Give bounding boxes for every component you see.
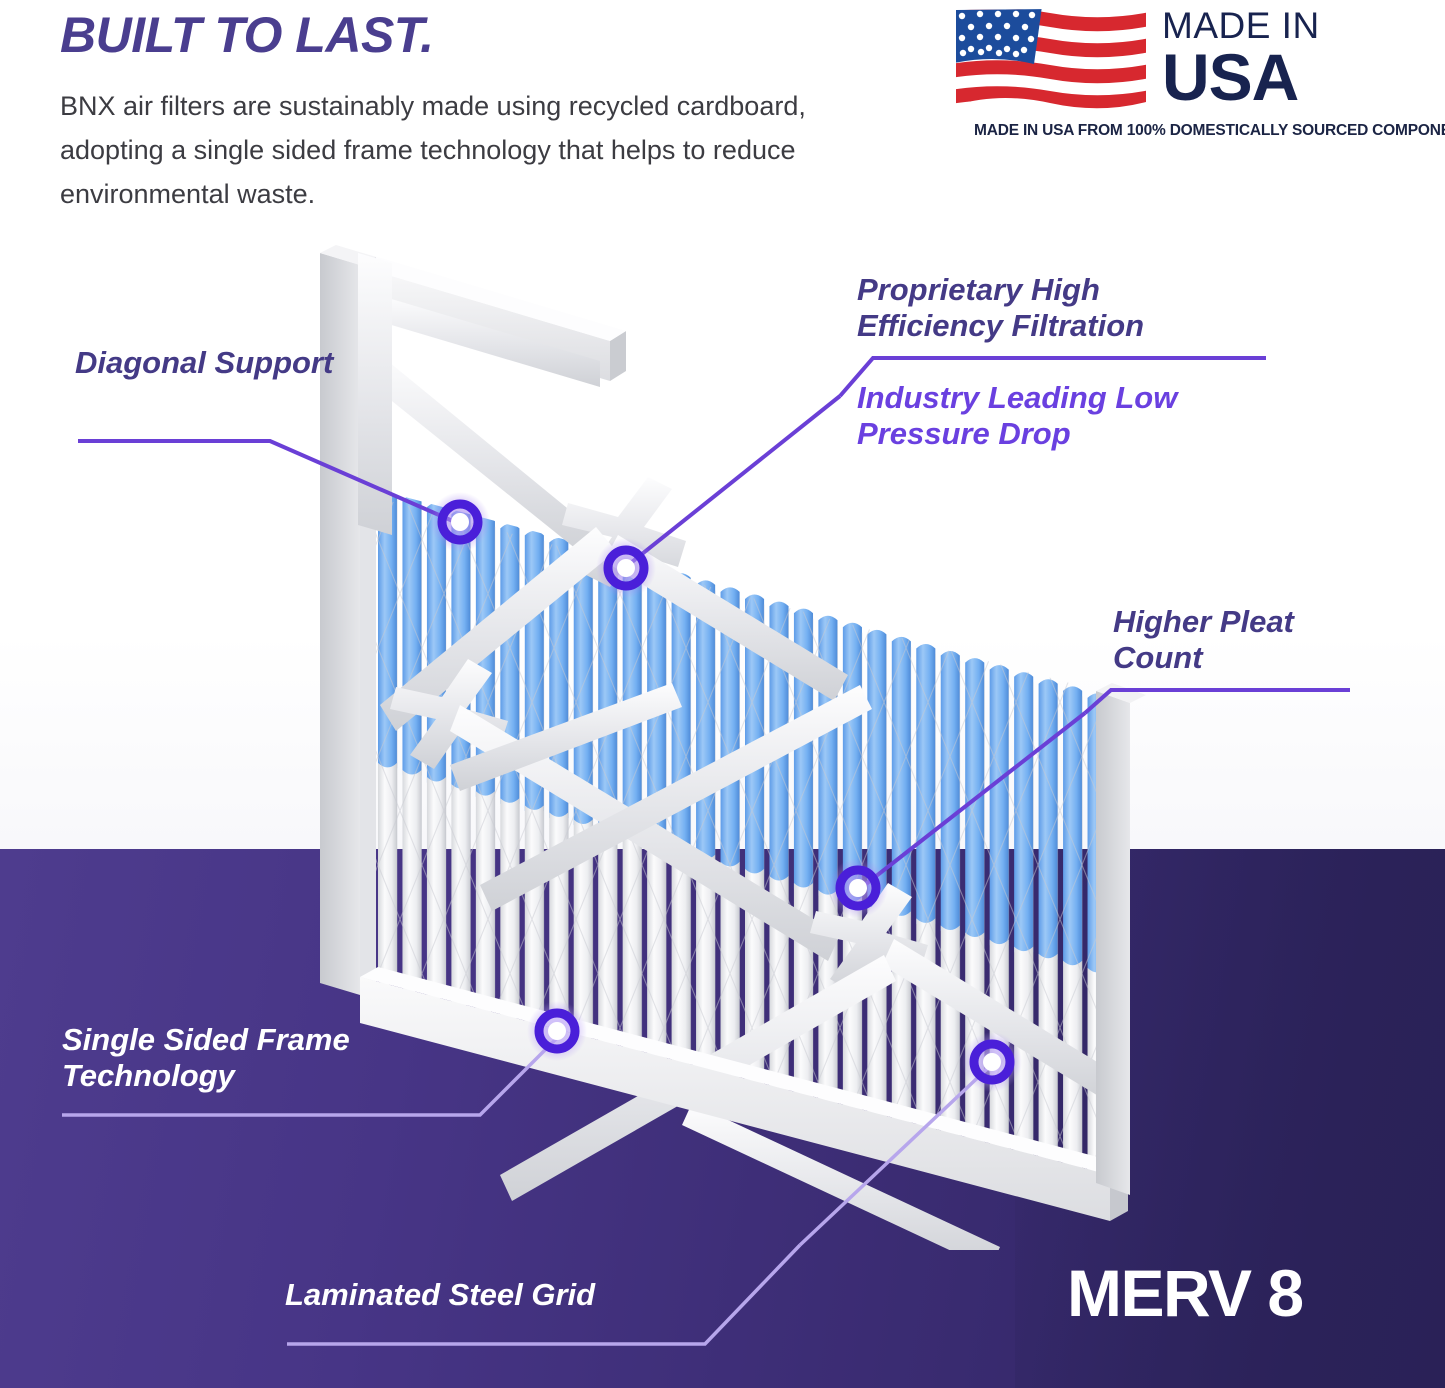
badge-tagline: MADE IN USA FROM 100% DOMESTICALLY SOURC… xyxy=(974,122,1444,140)
callout-higher-pleat-count-label: Higher Pleat Count xyxy=(1113,604,1294,677)
merv-rating: MERV 8 xyxy=(1067,1255,1303,1331)
callout-diagonal-support: Diagonal Support xyxy=(75,345,333,381)
callout-diagonal-support-label: Diagonal Support xyxy=(75,345,333,381)
callout-low-pressure-drop-label: Industry Leading Low Pressure Drop xyxy=(857,380,1177,453)
infographic-canvas: BUILT TO LAST. BNX air filters are susta… xyxy=(0,0,1445,1388)
callout-single-sided-frame-label: Single Sided Frame Technology xyxy=(62,1022,350,1095)
callout-high-efficiency: Proprietary High Efficiency Filtration xyxy=(857,272,1144,345)
page-subcopy: BNX air filters are sustainably made usi… xyxy=(60,84,860,216)
callout-low-pressure-drop: Industry Leading Low Pressure Drop xyxy=(857,380,1177,453)
callout-higher-pleat-count: Higher Pleat Count xyxy=(1113,604,1294,677)
callout-laminated-steel-grid-label: Laminated Steel Grid xyxy=(285,1277,595,1313)
usa-flag-icon xyxy=(950,6,1150,111)
made-in-usa-badge: MADE IN USA MADE IN USA FROM 100% DOMEST… xyxy=(950,4,1440,144)
page-headline: BUILT TO LAST. xyxy=(60,6,434,64)
badge-line-usa: USA xyxy=(1162,46,1320,108)
made-in-usa-wordmark: MADE IN USA xyxy=(1162,6,1320,108)
callout-laminated-steel-grid: Laminated Steel Grid xyxy=(285,1277,595,1313)
callout-single-sided-frame: Single Sided Frame Technology xyxy=(62,1022,350,1095)
callout-high-efficiency-label: Proprietary High Efficiency Filtration xyxy=(857,272,1144,345)
